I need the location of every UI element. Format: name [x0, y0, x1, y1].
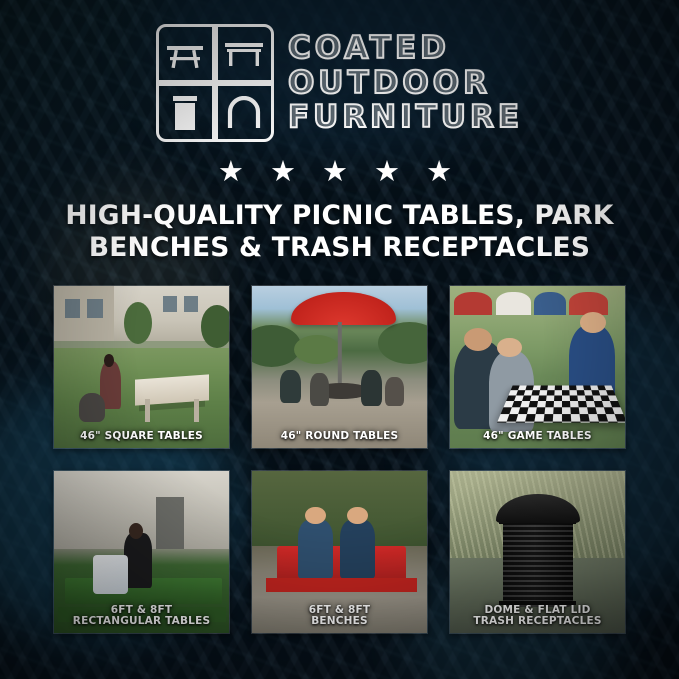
tile-rectangular-tables: 6FT & 8FT RECTANGULAR TABLES	[53, 470, 230, 634]
tile-caption: 46" SQUARE TABLES	[54, 431, 229, 443]
brand-logo: COATED OUTDOOR FURNITURE	[0, 24, 679, 142]
picnic-table-icon	[156, 24, 215, 83]
headline-line-2: BENCHES & TRASH RECEPTACLES	[30, 232, 649, 264]
tile-caption: 6FT & 8FT BENCHES	[252, 605, 427, 629]
tile-caption: DOME & FLAT LID TRASH RECEPTACLES	[450, 605, 625, 629]
product-gallery: 46" SQUARE TABLES 46" ROUND TABLES	[53, 285, 626, 634]
tile-caption-line-2: TRASH RECEPTACLES	[473, 615, 601, 627]
product-banner-image: COATED OUTDOOR FURNITURE ★ ★ ★ ★ ★ HIGH-…	[0, 0, 679, 679]
logo-mark	[156, 24, 274, 142]
photo-square-table	[54, 286, 229, 448]
headline-line-1: HIGH-QUALITY PICNIC TABLES, PARK	[65, 200, 613, 231]
bench-icon	[215, 24, 274, 83]
logo-line-1: COATED	[288, 32, 523, 65]
tile-caption-line-2: BENCHES	[311, 615, 368, 627]
star-rating: ★ ★ ★ ★ ★	[0, 158, 679, 187]
tile-caption: 46" ROUND TABLES	[252, 431, 427, 443]
tile-round-tables: 46" ROUND TABLES	[251, 285, 428, 449]
logo-line-2: OUTDOOR	[288, 67, 523, 100]
tile-caption-line-1: 6FT & 8FT	[111, 604, 173, 616]
tile-game-tables: 46" GAME TABLES	[449, 285, 626, 449]
tile-benches: 6FT & 8FT BENCHES	[251, 470, 428, 634]
tile-caption: 6FT & 8FT RECTANGULAR TABLES	[54, 605, 229, 629]
trash-receptacle-icon	[156, 83, 215, 142]
photo-game-table-checkers	[450, 286, 625, 448]
arch-bike-rack-icon	[215, 83, 274, 142]
tile-caption-line-2: RECTANGULAR TABLES	[73, 615, 210, 627]
photo-round-table-umbrella	[252, 286, 427, 448]
tile-caption-line-1: DOME & FLAT LID	[484, 604, 590, 616]
tile-trash-receptacles: DOME & FLAT LID TRASH RECEPTACLES	[449, 470, 626, 634]
tile-caption: 46" GAME TABLES	[450, 431, 625, 443]
logo-wordmark: COATED OUTDOOR FURNITURE	[288, 32, 523, 134]
headline: HIGH-QUALITY PICNIC TABLES, PARK BENCHES…	[30, 200, 649, 265]
tile-caption-line-1: 6FT & 8FT	[309, 604, 371, 616]
logo-line-3: FURNITURE	[288, 101, 523, 134]
tile-square-tables: 46" SQUARE TABLES	[53, 285, 230, 449]
